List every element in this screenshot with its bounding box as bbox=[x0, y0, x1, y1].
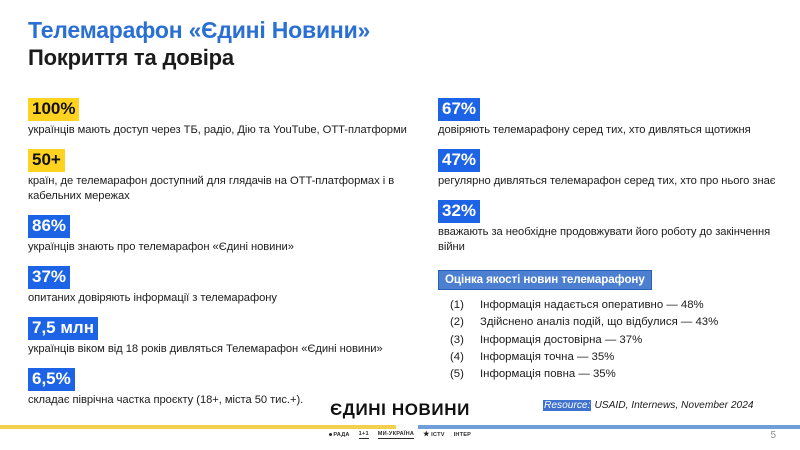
right-stats-column: 67% довіряють телемарафону серед тих, хт… bbox=[438, 98, 788, 384]
list-item-label: Інформація надається оперативно — 48% bbox=[480, 297, 788, 314]
stat-item: 7,5 млн українців віком від 18 років див… bbox=[28, 317, 418, 357]
stat-description: вважають за необхідне продовжувати його … bbox=[438, 225, 788, 255]
stat-item: 47% регулярно дивляться телемарафон сере… bbox=[438, 149, 788, 189]
stat-value-badge: 37% bbox=[28, 266, 70, 289]
star-icon: ★ bbox=[423, 431, 429, 438]
stat-description: опитаних довіряють інформації з телемара… bbox=[28, 291, 418, 306]
channel-label: 1+1 bbox=[359, 431, 369, 437]
channel-logo-1plus1: 1+1 bbox=[359, 431, 369, 439]
channel-logo-rada: РАДА bbox=[329, 432, 350, 438]
stat-item: 50+ країн, де телемарафон доступний для … bbox=[28, 149, 418, 204]
stat-description: країн, де телемарафон доступний для гляд… bbox=[28, 174, 418, 204]
footer-logo-text: ЄДИНІ НОВИНИ bbox=[330, 400, 470, 419]
list-item-number: (5) bbox=[438, 366, 480, 383]
list-item: (5) Інформація повна — 35% bbox=[438, 366, 788, 383]
stat-description: українців знають про телемарафон «Єдині … bbox=[28, 240, 418, 255]
dot-icon bbox=[329, 433, 332, 436]
slide-canvas: Телемарафон «Єдині Новини» Покриття та д… bbox=[0, 0, 800, 450]
channel-label: ІНТЕР bbox=[454, 432, 471, 438]
list-item: (3) Інформація достовірна — 37% bbox=[438, 332, 788, 349]
channel-logo-ictv: ★ICTV bbox=[423, 431, 445, 438]
channel-label: ICTV bbox=[431, 432, 445, 438]
list-item-label: Здійснено аналіз подій, що відбулися — 4… bbox=[480, 314, 788, 331]
page-title: Телемарафон «Єдині Новини» bbox=[28, 18, 768, 44]
list-item: (2) Здійснено аналіз подій, що відбулися… bbox=[438, 314, 788, 331]
footer-divider-blue bbox=[418, 425, 800, 429]
list-item-number: (3) bbox=[438, 332, 480, 349]
stat-value-badge: 6,5% bbox=[28, 368, 75, 391]
list-item: (4) Інформація точна — 35% bbox=[438, 349, 788, 366]
footer-logo: ЄДИНІ НОВИНИ bbox=[0, 400, 800, 420]
stat-value-badge: 67% bbox=[438, 98, 480, 121]
footer-divider-yellow bbox=[0, 425, 396, 429]
stat-value-badge: 86% bbox=[28, 215, 70, 238]
stat-value-badge: 32% bbox=[438, 200, 480, 223]
channel-logo-my-ukraine: МИ-УКРАЇНА bbox=[378, 431, 414, 439]
footer-divider bbox=[0, 425, 800, 429]
stat-item: 86% українців знають про телемарафон «Єд… bbox=[28, 215, 418, 255]
stat-value-badge: 50+ bbox=[28, 149, 65, 172]
stat-value-badge: 100% bbox=[28, 98, 79, 121]
list-item-label: Інформація точна — 35% bbox=[480, 349, 788, 366]
stat-value-badge: 47% bbox=[438, 149, 480, 172]
slide-title-block: Телемарафон «Єдині Новини» Покриття та д… bbox=[28, 18, 768, 70]
quality-list: (1) Інформація надається оперативно — 48… bbox=[438, 297, 788, 384]
stat-description: регулярно дивляться телемарафон серед ти… bbox=[438, 174, 788, 189]
list-item-label: Інформація повна — 35% bbox=[480, 366, 788, 383]
list-item-number: (4) bbox=[438, 349, 480, 366]
footer-divider-gap bbox=[396, 425, 418, 429]
list-item-number: (2) bbox=[438, 314, 480, 331]
list-item-label: Інформація достовірна — 37% bbox=[480, 332, 788, 349]
page-subtitle: Покриття та довіра bbox=[28, 45, 768, 70]
channel-label: РАДА bbox=[333, 432, 349, 438]
channel-logo-inter: ІНТЕР bbox=[454, 432, 471, 438]
stat-item: 37% опитаних довіряють інформації з теле… bbox=[28, 266, 418, 306]
stat-value-badge: 7,5 млн bbox=[28, 317, 98, 340]
stat-description: українців мають доступ через ТБ, радіо, … bbox=[28, 123, 418, 138]
broadcaster-logos: РАДА 1+1 МИ-УКРАЇНА ★ICTV ІНТЕР bbox=[0, 431, 800, 439]
stat-description: довіряють телемарафону серед тих, хто ди… bbox=[438, 123, 788, 138]
stat-item: 67% довіряють телемарафону серед тих, хт… bbox=[438, 98, 788, 138]
stat-item: 100% українців мають доступ через ТБ, ра… bbox=[28, 98, 418, 138]
list-item: (1) Інформація надається оперативно — 48… bbox=[438, 297, 788, 314]
stat-description: українців віком від 18 років дивляться Т… bbox=[28, 342, 418, 357]
page-number: 5 bbox=[770, 430, 776, 441]
quality-assessment-block: Оцінка якості новин телемарафону (1) Інф… bbox=[438, 270, 788, 384]
list-item-number: (1) bbox=[438, 297, 480, 314]
left-stats-column: 100% українців мають доступ через ТБ, ра… bbox=[28, 98, 418, 408]
stat-item: 32% вважають за необхідне продовжувати й… bbox=[438, 200, 788, 255]
quality-header: Оцінка якості новин телемарафону bbox=[438, 270, 652, 290]
channel-label: МИ-УКРАЇНА bbox=[378, 431, 414, 437]
